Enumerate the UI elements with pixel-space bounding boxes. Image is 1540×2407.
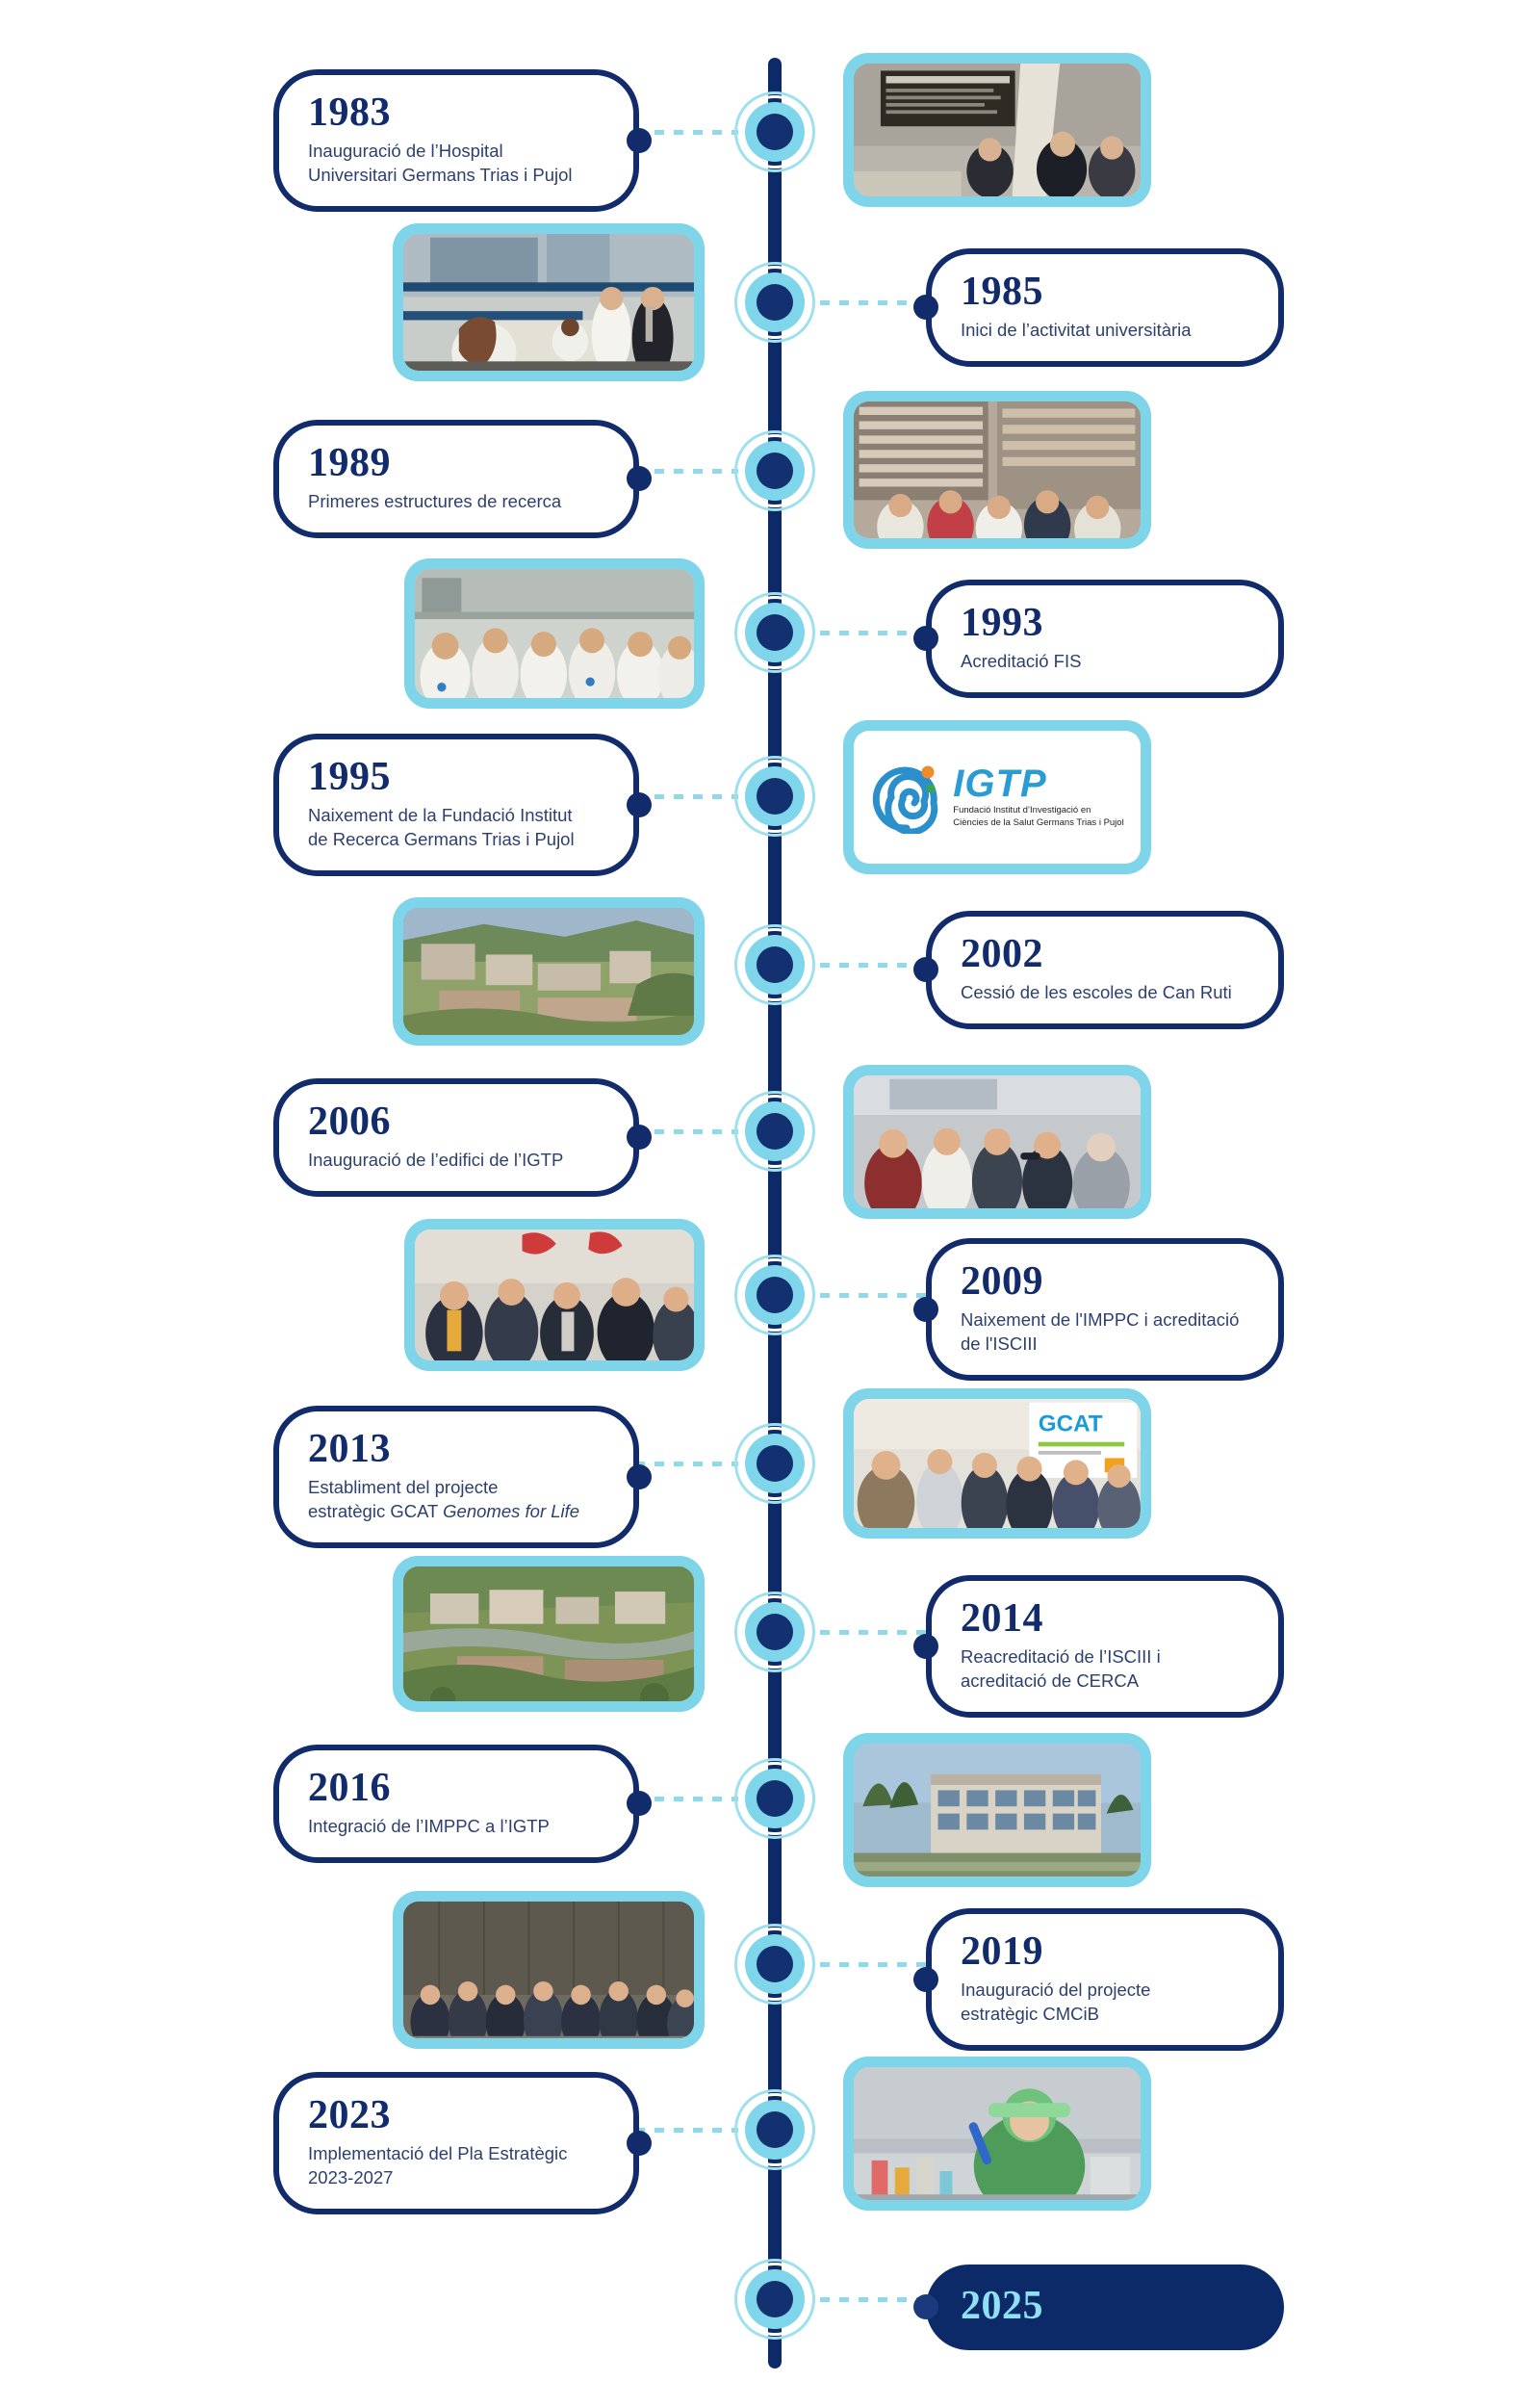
photo-frame <box>854 1744 1141 1876</box>
card-connector-knob <box>913 295 938 320</box>
research-library-group-photo <box>854 401 1141 538</box>
photo-frame <box>403 1902 694 2038</box>
event-card-1995[interactable]: 1995 Naixement de la Fundació Institut d… <box>273 734 639 876</box>
photo-frame: GCAT <box>854 1399 1141 1528</box>
timeline-node-1995[interactable] <box>745 766 805 826</box>
card-connector-knob <box>913 1297 938 1322</box>
timeline-node-2009[interactable] <box>745 1265 805 1325</box>
event-photo-1985[interactable] <box>393 223 705 381</box>
can-ruti-campus-aerial-photo <box>403 908 694 1035</box>
event-year: 2016 <box>308 1768 604 1809</box>
timeline-node-2023[interactable] <box>745 2100 805 2160</box>
node-core-icon <box>757 114 793 150</box>
event-card-2002[interactable]: 2002 Cessió de les escoles de Can Ruti <box>926 911 1284 1029</box>
connector-2009 <box>820 1293 926 1298</box>
node-core-icon <box>757 284 793 321</box>
group-portrait-cmcib-photo <box>403 1902 694 2038</box>
event-photo-1983[interactable] <box>843 53 1151 207</box>
igtp-logo: IGTP Fundació Institut d’Investigació en… <box>854 731 1141 864</box>
laboratory-visit-photo <box>403 234 694 371</box>
svg-text:GCAT: GCAT <box>1039 1411 1103 1437</box>
plaque-unveiling-ceremony-photo <box>854 64 1141 196</box>
igtp-logo-title: IGTP <box>953 765 1123 802</box>
timeline-node-2016[interactable] <box>745 1769 805 1828</box>
node-core-icon <box>757 1445 793 1482</box>
event-card-2014[interactable]: 2014 Reacreditació de l’ISCIII i acredit… <box>926 1575 1284 1718</box>
photo-frame <box>415 1229 694 1360</box>
event-year: 1993 <box>961 603 1249 644</box>
photo-frame <box>854 64 1141 196</box>
node-core-icon <box>757 1277 793 1313</box>
card-connector-knob <box>627 2131 652 2156</box>
photo-frame <box>403 234 694 371</box>
event-description: Acreditació FIS <box>961 649 1249 673</box>
officials-meeting-photo <box>415 1229 694 1360</box>
card-connector-knob <box>627 792 652 817</box>
event-card-2006[interactable]: 2006 Inauguració de l’edifici de l’IGTP <box>273 1078 639 1197</box>
event-description: Implementació del Pla Estratègic 2023-20… <box>308 2141 604 2189</box>
event-card-2013[interactable]: 2013 Establiment del projecte estratègic… <box>273 1406 639 1548</box>
igtp-logo-text: IGTP Fundació Institut d’Investigació en… <box>953 765 1123 829</box>
node-core-icon <box>757 453 793 489</box>
event-description: Integració de l’IMPPC a l’IGTP <box>308 1814 604 1838</box>
photo-frame <box>403 1566 694 1701</box>
event-description: Establiment del projecte estratègic GCAT… <box>308 1475 604 1523</box>
card-connector-knob <box>913 1967 938 1992</box>
timeline-node-2019[interactable] <box>745 1934 805 1994</box>
event-card-2025[interactable]: 2025 <box>926 2265 1284 2350</box>
event-description: Reacreditació de l’ISCIII i acreditació … <box>961 1644 1249 1693</box>
event-description: Inauguració de l’edifici de l’IGTP <box>308 1148 604 1172</box>
event-photo-1989[interactable] <box>843 391 1151 549</box>
event-year: 2013 <box>308 1429 604 1470</box>
gcat-project-team-photo: GCAT <box>854 1399 1141 1528</box>
photo-frame <box>403 908 694 1035</box>
research-team-lab-coats-photo <box>415 569 694 698</box>
event-photo-2006[interactable] <box>843 1065 1151 1219</box>
igtp-logo-subtitle: Fundació Institut d’Investigació en Cièn… <box>953 805 1123 829</box>
connector-2025 <box>820 2297 926 2302</box>
igtp-building-exterior-photo <box>854 1744 1141 1876</box>
timeline-node-2014[interactable] <box>745 1602 805 1662</box>
event-year: 2006 <box>308 1101 604 1143</box>
photo-frame <box>415 569 694 698</box>
event-photo-1995-logo[interactable]: IGTP Fundació Institut d’Investigació en… <box>843 720 1151 874</box>
event-card-2023[interactable]: 2023 Implementació del Pla Estratègic 20… <box>273 2072 639 2214</box>
node-core-icon <box>757 778 793 815</box>
timeline-node-2006[interactable] <box>745 1101 805 1161</box>
timeline-node-1989[interactable] <box>745 441 805 501</box>
card-connector-knob <box>913 2294 938 2319</box>
node-core-icon <box>757 1946 793 1982</box>
event-year: 1995 <box>308 757 604 798</box>
event-card-1989[interactable]: 1989 Primeres estructures de recerca <box>273 420 639 538</box>
photo-frame: IGTP Fundació Institut d’Investigació en… <box>854 731 1141 864</box>
igtp-spiral-icon <box>870 761 943 834</box>
card-connector-knob <box>913 1634 938 1659</box>
campus-aerial-view-photo <box>403 1566 694 1701</box>
event-year: 2002 <box>961 934 1249 975</box>
timeline-node-2025[interactable] <box>745 2269 805 2329</box>
event-card-2016[interactable]: 2016 Integració de l’IMPPC a l’IGTP <box>273 1745 639 1863</box>
event-photo-2016[interactable] <box>843 1733 1151 1887</box>
connector-2014 <box>820 1630 926 1635</box>
event-photo-2013[interactable]: GCAT <box>843 1388 1151 1539</box>
timeline-spine <box>768 58 782 2368</box>
event-description: Primeres estructures de recerca <box>308 489 604 513</box>
event-card-1993[interactable]: 1993 Acreditació FIS <box>926 580 1284 698</box>
event-photo-2023[interactable] <box>843 2057 1151 2211</box>
event-photo-2009[interactable] <box>404 1219 705 1371</box>
building-inauguration-photo <box>854 1075 1141 1208</box>
event-year: 2023 <box>308 2095 604 2136</box>
card-connector-knob <box>913 626 938 651</box>
card-connector-knob <box>627 466 652 491</box>
node-core-icon <box>757 1113 793 1150</box>
card-connector-knob <box>627 1464 652 1489</box>
node-core-icon <box>757 614 793 651</box>
timeline-node-2013[interactable] <box>745 1434 805 1493</box>
node-core-icon <box>757 946 793 983</box>
connector-1993 <box>820 631 926 635</box>
card-connector-knob <box>627 1125 652 1150</box>
photo-frame <box>854 1075 1141 1208</box>
event-description-emphasis: Genomes for Life <box>443 1501 579 1521</box>
event-description: Naixement de la Fundació Institut de Rec… <box>308 803 604 851</box>
card-connector-knob <box>913 957 938 982</box>
timeline-infographic: 1983 Inauguració de l’Hospital Universit… <box>0 0 1540 2407</box>
event-photo-2014[interactable] <box>393 1556 705 1712</box>
event-year: 1985 <box>961 272 1249 313</box>
event-description: Inauguració del projecte estratègic CMCi… <box>961 1978 1249 2026</box>
timeline-node-1993[interactable] <box>745 603 805 662</box>
photo-frame <box>854 2067 1141 2200</box>
laboratory-researcher-pipetting-photo <box>854 2067 1141 2200</box>
node-core-icon <box>757 2281 793 2317</box>
photo-frame <box>854 401 1141 538</box>
event-year: 2009 <box>961 1261 1249 1303</box>
event-year: 1989 <box>308 443 604 484</box>
node-core-icon <box>757 2111 793 2148</box>
event-card-1985[interactable]: 1985 Inici de l’activitat universitària <box>926 248 1284 367</box>
event-photo-2019[interactable] <box>393 1891 705 2049</box>
event-card-2009[interactable]: 2009 Naixement de l'IMPPC i acreditació … <box>926 1238 1284 1381</box>
connector-2002 <box>820 963 926 968</box>
event-photo-2002[interactable] <box>393 897 705 1046</box>
connector-1985 <box>820 300 926 305</box>
event-description: Naixement de l'IMPPC i acreditació de l'… <box>961 1307 1249 1356</box>
event-year: 2019 <box>961 1931 1249 1973</box>
event-year: 2014 <box>961 1598 1249 1640</box>
card-connector-knob <box>627 1791 652 1816</box>
timeline-node-1985[interactable] <box>745 272 805 332</box>
event-photo-1993[interactable] <box>404 558 705 709</box>
event-description: Inici de l’activitat universitària <box>961 318 1249 342</box>
event-card-1983[interactable]: 1983 Inauguració de l’Hospital Universit… <box>273 69 639 212</box>
event-description: Cessió de les escoles de Can Ruti <box>961 980 1249 1004</box>
event-card-2019[interactable]: 2019 Inauguració del projecte estratègic… <box>926 1908 1284 2051</box>
timeline-node-1983[interactable] <box>745 102 805 162</box>
event-year: 1983 <box>308 92 604 134</box>
timeline-node-2002[interactable] <box>745 935 805 995</box>
event-year: 2025 <box>961 2286 1249 2327</box>
node-core-icon <box>757 1780 793 1817</box>
card-connector-knob <box>627 128 652 153</box>
node-core-icon <box>757 1614 793 1650</box>
event-description: Inauguració de l’Hospital Universitari G… <box>308 139 604 187</box>
connector-2019 <box>820 1962 926 1967</box>
